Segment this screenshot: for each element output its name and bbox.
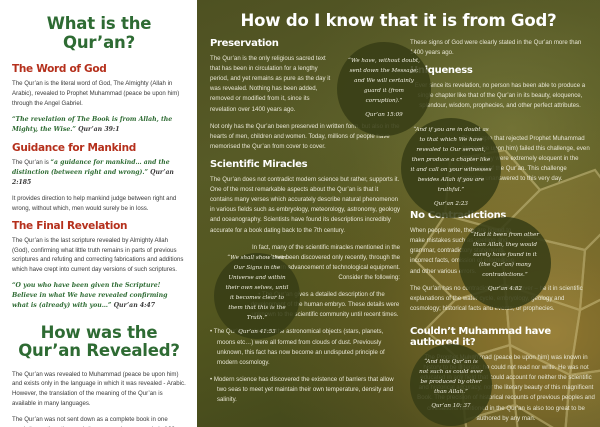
section-heading: The Word of God xyxy=(12,63,186,75)
lead-prefix: The Qur’an is xyxy=(12,159,51,166)
quote-reference: Qur’an 4:47 xyxy=(114,302,155,309)
left-panel: What is the Qur’an? The Word of God The … xyxy=(0,0,197,427)
pull-quote-reference: Qur’an 4:82 xyxy=(488,285,522,295)
page-title-left: What is the Qur’an? xyxy=(12,14,186,52)
infographic-page: What is the Qur’an? The Word of God The … xyxy=(0,0,600,427)
pull-quote-text: “We have, without doubt, sent down the M… xyxy=(346,57,422,107)
pull-quote-reference: Qur’an 41:53 xyxy=(238,328,275,338)
page-title-left-2: How was the Qur’an Revealed? xyxy=(12,324,186,360)
section-word-of-god: The Word of God The Qur’an is the litera… xyxy=(12,63,186,134)
pull-quote-reference: Qur’an 15:09 xyxy=(365,111,402,121)
section-paragraph: The Qur’an is the literal word of God, T… xyxy=(12,79,186,109)
pull-quote-text: “And this Qur’an is not such as could ev… xyxy=(419,358,483,398)
page-title-right: How do I know that it is from God? xyxy=(197,11,600,30)
section-heading-scientific-miracles: Scientific Miracles xyxy=(210,159,400,170)
section-quote: “O you who have been given the Scripture… xyxy=(12,281,186,311)
section-quote: “The revelation of The Book is from Alla… xyxy=(12,115,186,135)
section-heading-uniqueness: Uniqueness xyxy=(410,65,590,76)
section-heading-authored: Couldn’t Muhammad have authored it? xyxy=(410,326,596,348)
pull-quote-authored: “And this Qur’an is not such as could ev… xyxy=(410,344,492,426)
revealed-paragraph: The Qur’an was revealed to Muhammad (pea… xyxy=(12,370,186,409)
preservation-paragraph-1: The Qur’an is the only religious sacred … xyxy=(210,54,335,115)
intro-paragraph: These signs of God were clearly stated i… xyxy=(410,38,590,58)
pull-quote-text: “We shall show them Our Signs in the Uni… xyxy=(223,254,291,324)
revealed-paragraph: The Qur’an was not sent down as a comple… xyxy=(12,415,186,427)
title-line-2: Qur’an Revealed? xyxy=(12,342,186,360)
uniqueness-paragraph-1: Ever since its revelation, no person has… xyxy=(410,81,590,111)
pull-quote-text: “Had it been from other than Allah, they… xyxy=(468,231,542,281)
section-heading: The Final Revelation xyxy=(12,220,186,232)
section-lead: The Qur’an is “a guidance for mankind… a… xyxy=(12,158,186,188)
section-heading: Guidance for Mankind xyxy=(12,142,186,154)
pull-quote-text: “And if you are in doubt as to that whic… xyxy=(410,126,492,196)
section-paragraph: The Qur’an is the last scripture reveale… xyxy=(12,236,186,275)
pull-quote-uniqueness: “And if you are in doubt as to that whic… xyxy=(401,118,501,218)
pull-quote-signs: “We shall show them Our Signs in the Uni… xyxy=(214,253,300,339)
quote-reference: Qur’an 39:1 xyxy=(76,126,120,133)
section-final-revelation: The Final Revelation The Qur’an is the l… xyxy=(12,220,186,311)
miracles-bullet: • Modern science has discovered the exis… xyxy=(210,375,400,405)
right-panel: How do I know that it is from God? Prese… xyxy=(197,0,600,427)
pull-quote-preservation: “We have, without doubt, sent down the M… xyxy=(337,42,431,136)
section-paragraph: It provides direction to help mankind ju… xyxy=(12,194,186,214)
miracles-paragraph-1: The Qur’an does not contradict modern sc… xyxy=(210,175,400,236)
pull-quote-contradictions: “Had it been from other than Allah, they… xyxy=(459,217,551,309)
title-line-1: How was the xyxy=(12,324,186,342)
section-guidance-for-mankind: Guidance for Mankind The Qur’an is “a gu… xyxy=(12,142,186,213)
pull-quote-reference: Qur’an 2:23 xyxy=(434,200,468,210)
pull-quote-reference: Qur’an 10: 37 xyxy=(431,402,470,412)
